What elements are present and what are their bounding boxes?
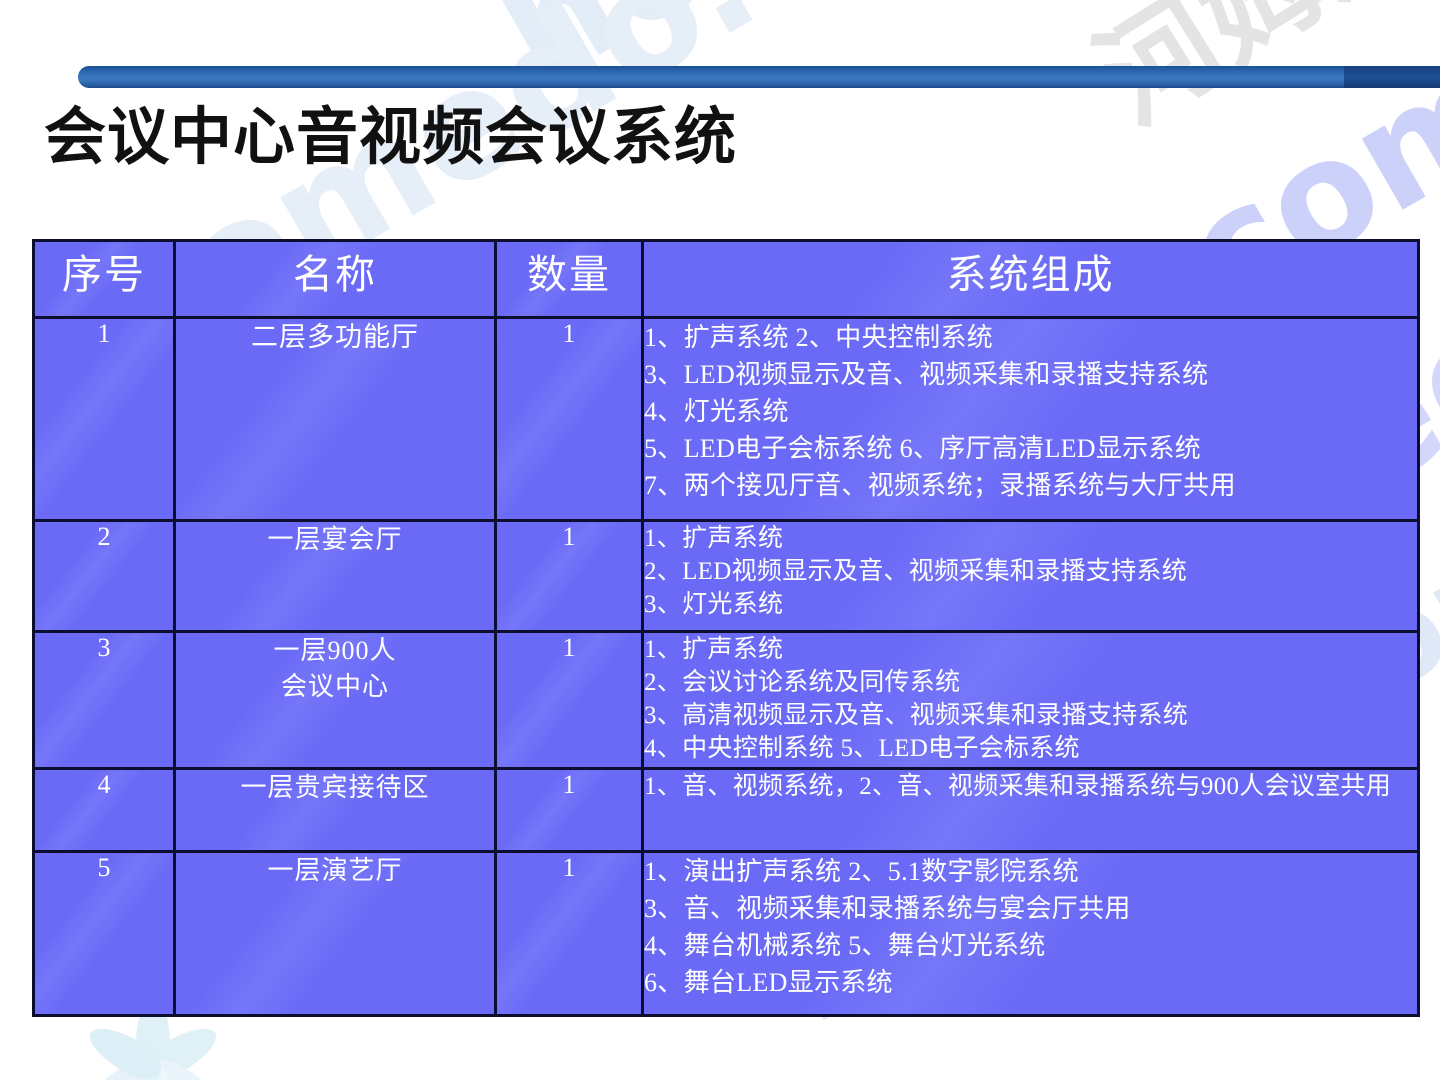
- header-bar-gradient: [78, 66, 1440, 88]
- table-row: 3 一层900人会议中心 1 1、扩声系统2、会议讨论系统及同传系统3、高清视频…: [34, 632, 1419, 769]
- system-item: 4、中央控制系统 5、LED电子会标系统: [644, 732, 1417, 765]
- system-item: 3、LED视频显示及音、视频采集和录播支持系统: [644, 356, 1417, 393]
- system-item: 1、扩声系统: [644, 522, 1417, 555]
- cell-system: 1、演出扩声系统 2、5.1数字影院系统3、音、视频采集和录播系统与宴会厅共用4…: [643, 852, 1419, 1016]
- system-item: 5、LED电子会标系统 6、序厅高清LED显示系统: [644, 430, 1417, 467]
- slide-canvas: homedo.com homedo.com 河姆渡 homedo.com hom…: [0, 0, 1440, 1080]
- table-row: 4 一层贵宾接待区 1 1、音、视频系统，2、音、视频采集和录播系统与900人会…: [34, 769, 1419, 852]
- cell-name: 一层宴会厅: [175, 521, 496, 632]
- system-item: 1、扩声系统: [644, 633, 1417, 666]
- system-item: 1、演出扩声系统 2、5.1数字影院系统: [644, 853, 1417, 890]
- cell-name: 一层900人会议中心: [175, 632, 496, 769]
- cell-no: 3: [34, 632, 175, 769]
- system-item: 3、灯光系统: [644, 588, 1417, 621]
- cell-qty: 1: [496, 852, 643, 1016]
- cell-name: 一层贵宾接待区: [175, 769, 496, 852]
- text-line: 会议中心: [176, 669, 494, 705]
- spec-table: 序号 名称 数量 系统组成 1 二层多功能厅 1 1、扩声系统 2、中央控制系统…: [32, 239, 1420, 1017]
- cell-no: 4: [34, 769, 175, 852]
- system-item: 3、音、视频采集和录播系统与宴会厅共用: [644, 890, 1417, 927]
- system-item: 4、舞台机械系统 5、舞台灯光系统: [644, 927, 1417, 964]
- system-item: 3、高清视频显示及音、视频采集和录播支持系统: [644, 699, 1417, 732]
- column-header-name: 名称: [175, 241, 496, 318]
- table-header-row: 序号 名称 数量 系统组成: [34, 241, 1419, 318]
- system-item: 4、灯光系统: [644, 393, 1417, 430]
- cell-qty: 1: [496, 769, 643, 852]
- column-header-qty: 数量: [496, 241, 643, 318]
- cell-system: 1、音、视频系统，2、音、视频采集和录播系统与900人会议室共用: [643, 769, 1419, 852]
- text-line: 一层900人: [176, 633, 494, 669]
- cell-qty: 1: [496, 632, 643, 769]
- spec-table-container: 序号 名称 数量 系统组成 1 二层多功能厅 1 1、扩声系统 2、中央控制系统…: [32, 239, 1417, 1017]
- table-row: 1 二层多功能厅 1 1、扩声系统 2、中央控制系统3、LED视频显示及音、视频…: [34, 318, 1419, 521]
- system-item: 7、两个接见厅音、视频系统；录播系统与大厅共用: [644, 467, 1417, 504]
- cell-no: 1: [34, 318, 175, 521]
- column-header-system: 系统组成: [643, 241, 1419, 318]
- cell-system: 1、扩声系统 2、中央控制系统3、LED视频显示及音、视频采集和录播支持系统4、…: [643, 318, 1419, 521]
- cell-no: 5: [34, 852, 175, 1016]
- header-bar-end-cap: [1344, 66, 1440, 88]
- system-item: 2、会议讨论系统及同传系统: [644, 666, 1417, 699]
- cell-qty: 1: [496, 521, 643, 632]
- system-item: 1、扩声系统 2、中央控制系统: [644, 319, 1417, 356]
- table-row: 2 一层宴会厅 1 1、扩声系统2、LED视频显示及音、视频采集和录播支持系统3…: [34, 521, 1419, 632]
- cell-qty: 1: [496, 318, 643, 521]
- table-row: 5 一层演艺厅 1 1、演出扩声系统 2、5.1数字影院系统3、音、视频采集和录…: [34, 852, 1419, 1016]
- system-item: 2、LED视频显示及音、视频采集和录播支持系统: [644, 555, 1417, 588]
- system-item: 1、音、视频系统，2、音、视频采集和录播系统与900人会议室共用: [644, 770, 1417, 803]
- header-decoration-bar: [0, 66, 1440, 92]
- cell-system: 1、扩声系统2、会议讨论系统及同传系统3、高清视频显示及音、视频采集和录播支持系…: [643, 632, 1419, 769]
- cell-no: 2: [34, 521, 175, 632]
- cell-name: 一层演艺厅: [175, 852, 496, 1016]
- system-item: 6、舞台LED显示系统: [644, 964, 1417, 1001]
- cell-name: 二层多功能厅: [175, 318, 496, 521]
- cell-system: 1、扩声系统2、LED视频显示及音、视频采集和录播支持系统3、灯光系统: [643, 521, 1419, 632]
- column-header-no: 序号: [34, 241, 175, 318]
- page-title: 会议中心音视频会议系统: [44, 98, 737, 176]
